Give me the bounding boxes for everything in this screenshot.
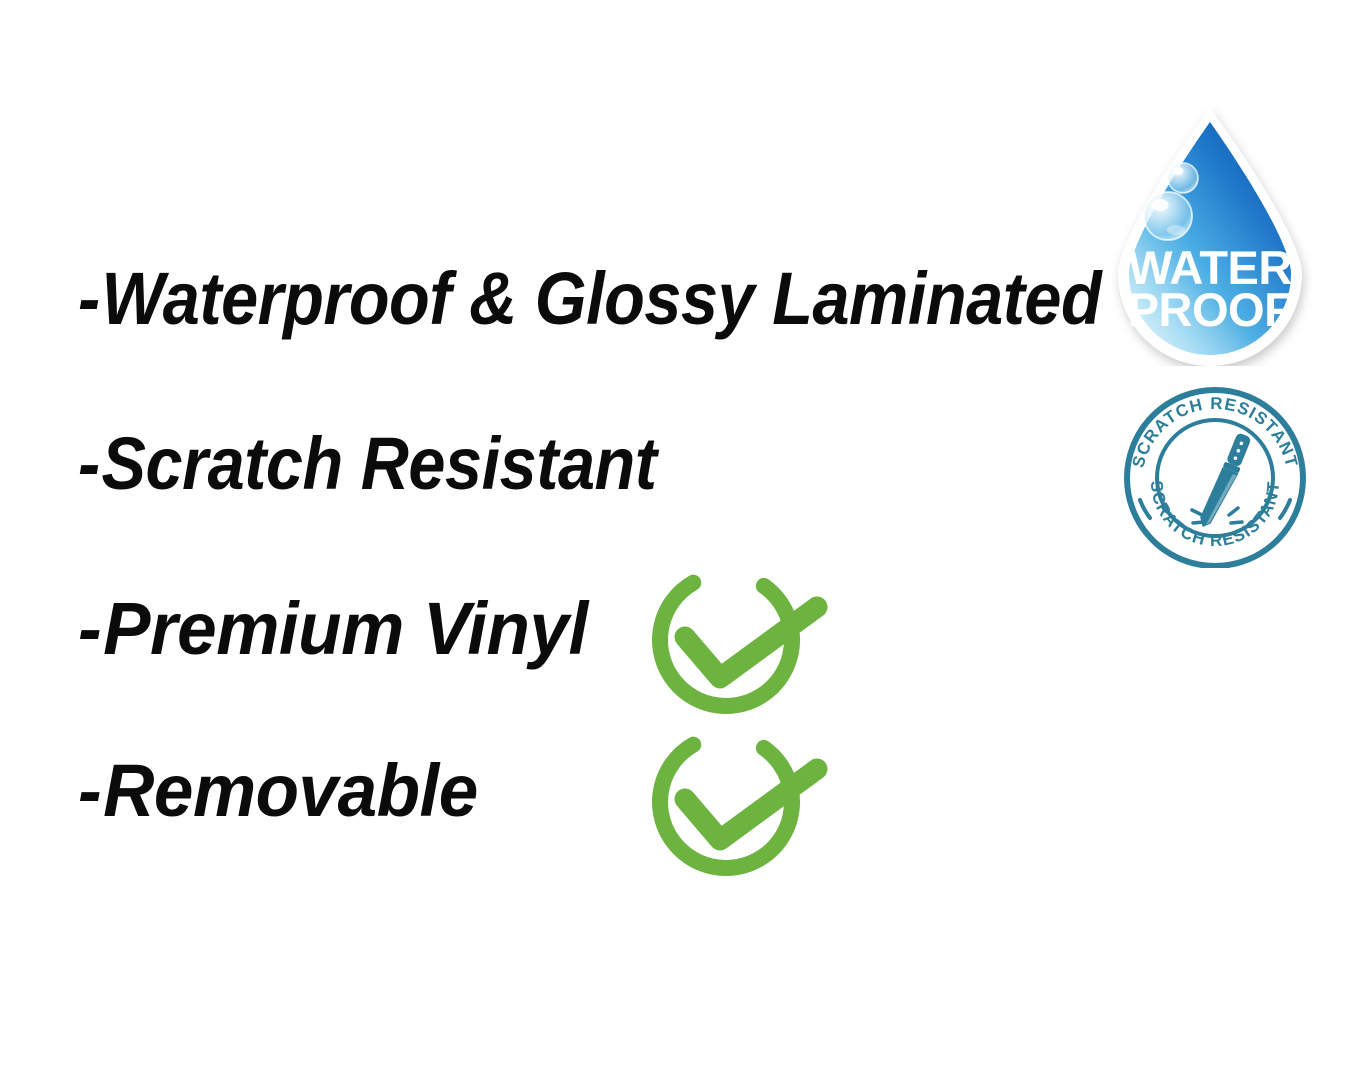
- feature-item-waterproof-glossy-laminated: -Waterproof & Glossy Laminated: [78, 262, 1101, 336]
- check-circle-icon: [638, 552, 834, 728]
- bullet-dash: -: [78, 592, 101, 666]
- bullet-dash: -: [78, 427, 100, 501]
- svg-text:SCRATCH RESISTANT: SCRATCH RESISTANT: [1128, 394, 1301, 470]
- feature-item-premium-vinyl: -Premium Vinyl: [78, 592, 588, 666]
- feature-item-removable: -Removable: [78, 754, 478, 828]
- water-drop-icon: WATER PROOF: [1104, 104, 1316, 366]
- water-bubble-large: [1144, 192, 1192, 240]
- bullet-dash: -: [78, 754, 101, 828]
- water-bubble-small: [1168, 163, 1198, 193]
- waterproof-line2: PROOF: [1128, 283, 1293, 336]
- feature-label: Scratch Resistant: [102, 422, 657, 505]
- check-circle-icon: [638, 714, 834, 890]
- bullet-dash: -: [78, 262, 100, 336]
- feature-list: -Waterproof & Glossy Laminated -Scratch …: [0, 0, 1100, 1080]
- knife-stamp-icon: SCRATCH RESISTANT SCRATCH RESISTANT: [1118, 382, 1312, 568]
- feature-label: Premium Vinyl: [103, 587, 588, 670]
- scratch-top-text: SCRATCH RESISTANT: [1128, 394, 1301, 470]
- feature-item-scratch-resistant: -Scratch Resistant: [78, 427, 657, 501]
- feature-graphic-canvas: -Waterproof & Glossy Laminated -Scratch …: [0, 0, 1359, 1080]
- feature-label: Waterproof & Glossy Laminated: [102, 257, 1102, 340]
- feature-label: Removable: [103, 749, 478, 832]
